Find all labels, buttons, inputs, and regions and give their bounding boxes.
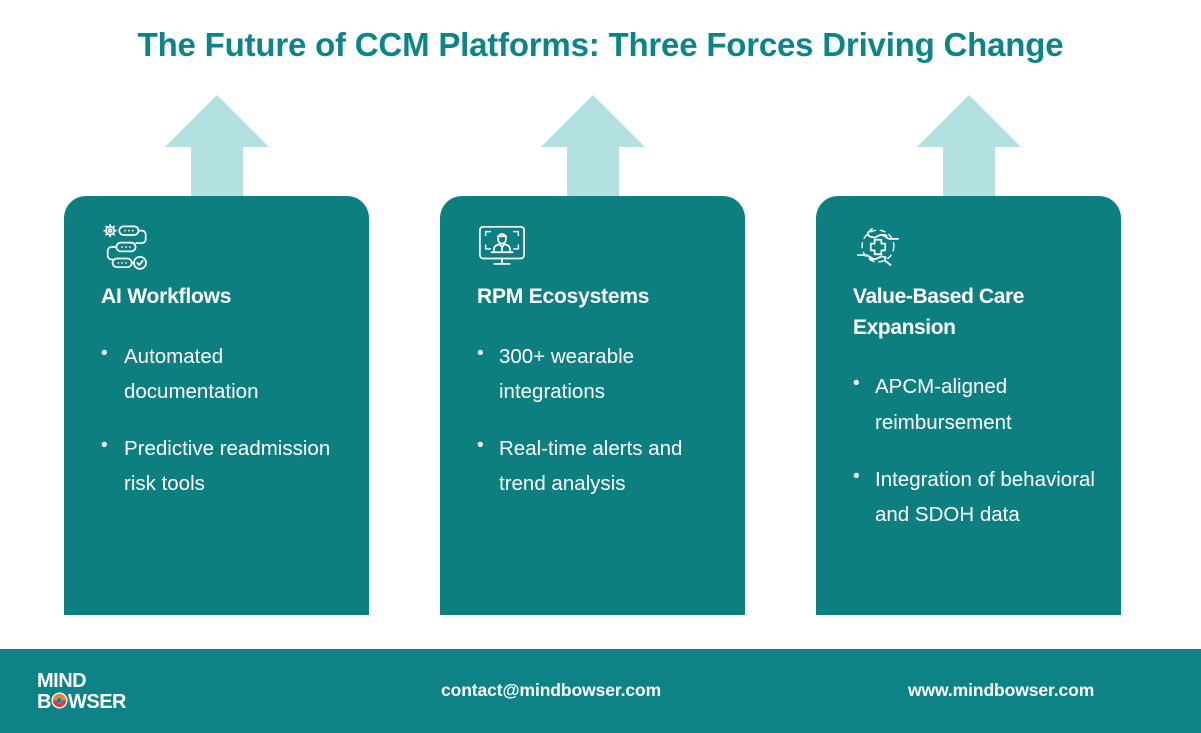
up-arrow-icon: [917, 95, 1021, 200]
cards-container: AI Workflows Automated documentation Pre…: [0, 196, 1201, 616]
card-value-based-care-expansion[interactable]: Value-Based Care Expansion APCM-aligned …: [816, 196, 1121, 615]
card-title: Value-Based Care Expansion: [853, 282, 1095, 343]
svg-text:MIND: MIND: [37, 670, 86, 692]
telemedicine-monitor-icon: [477, 222, 527, 272]
footer-bar: MIND B WSER contact@mindbowser.com www.m…: [0, 649, 1201, 733]
list-item: Real-time alerts and trend analysis: [477, 431, 719, 502]
mindbowser-logo[interactable]: MIND B WSER: [37, 670, 169, 712]
footer-email[interactable]: contact@mindbowser.com: [441, 680, 661, 701]
footer-website[interactable]: www.mindbowser.com: [908, 680, 1094, 701]
up-arrow-icon: [165, 95, 269, 200]
up-arrow-icon: [541, 95, 645, 200]
page-title: The Future of CCM Platforms: Three Force…: [0, 26, 1201, 64]
card-ai-workflows[interactable]: AI Workflows Automated documentation Pre…: [64, 196, 369, 615]
list-item: 300+ wearable integrations: [477, 339, 719, 410]
card-title: AI Workflows: [101, 282, 343, 313]
card-rpm-ecosystems[interactable]: RPM Ecosystems 300+ wearable integration…: [440, 196, 745, 615]
ai-workflow-icon: [101, 222, 151, 272]
list-item: Integration of behavioral and SDOH data: [853, 462, 1095, 533]
card-title: RPM Ecosystems: [477, 282, 719, 313]
card-bullet-list: APCM-aligned reimbursement Integration o…: [853, 369, 1095, 532]
svg-text:B: B: [37, 691, 51, 712]
card-bullet-list: 300+ wearable integrations Real-time ale…: [477, 339, 719, 502]
hands-medical-cross-icon: [853, 222, 903, 272]
list-item: Predictive readmission risk tools: [101, 431, 343, 502]
list-item: Automated documentation: [101, 339, 343, 410]
card-bullet-list: Automated documentation Predictive readm…: [101, 339, 343, 502]
svg-text:WSER: WSER: [68, 691, 127, 712]
list-item: APCM-aligned reimbursement: [853, 369, 1095, 440]
